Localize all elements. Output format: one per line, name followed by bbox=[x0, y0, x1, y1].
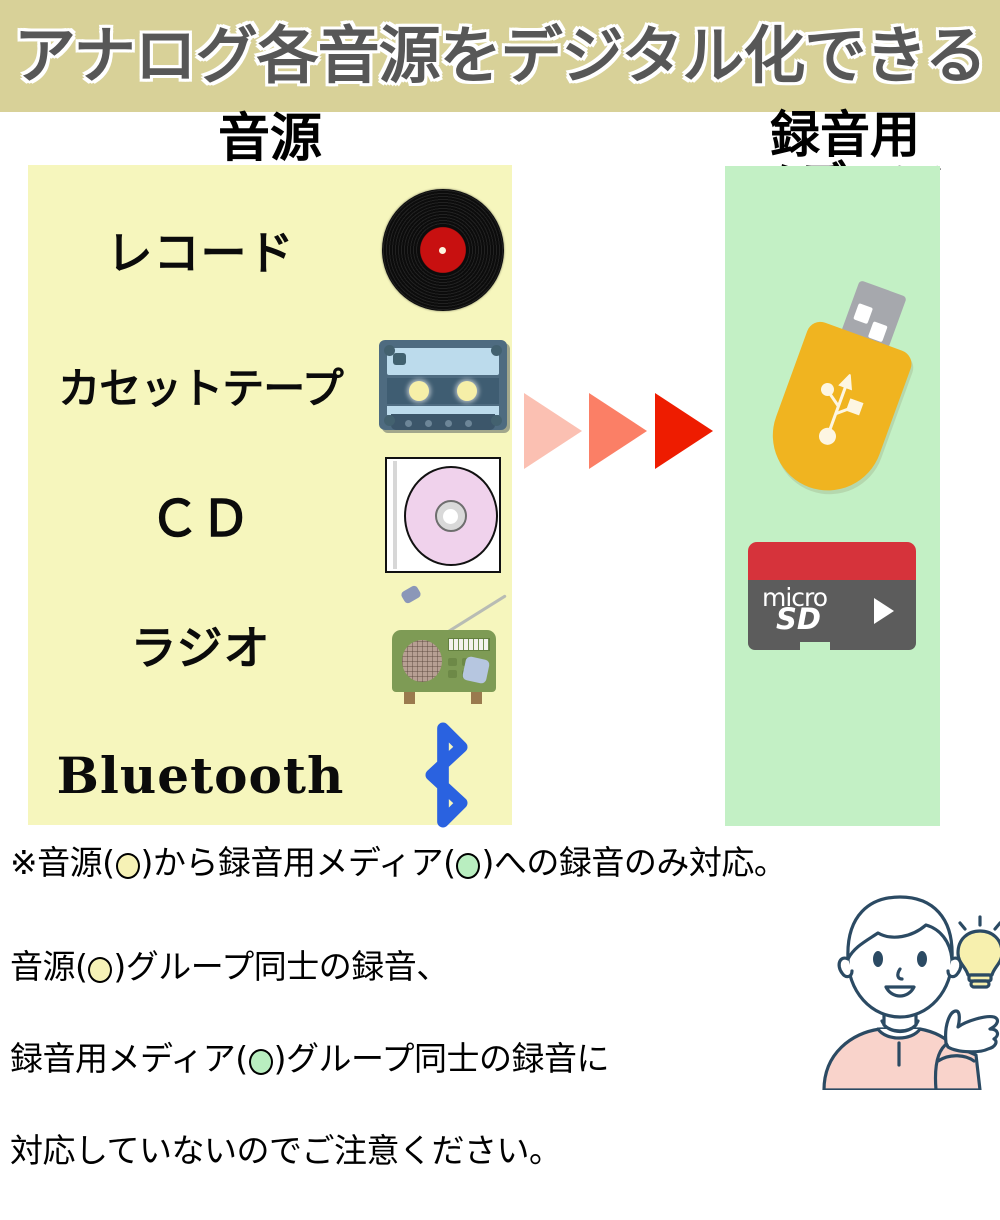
radio-icon bbox=[373, 580, 512, 710]
footnote-line2-part1: 録音用メディア( bbox=[10, 1039, 248, 1078]
footnote-primary-part1: ※音源( bbox=[10, 843, 115, 882]
footnote-line1-part1: 音源( bbox=[10, 947, 87, 986]
cd-jewel-case-icon bbox=[373, 450, 512, 580]
source-label-cd: ＣＤ bbox=[28, 479, 373, 551]
footnote-secondary: 音源()グループ同士の録音、 録音用メディア()グループ同士の録音に 対応してい… bbox=[10, 898, 609, 1220]
flow-arrow-3 bbox=[655, 393, 713, 469]
legend-dot-media-2 bbox=[249, 1049, 273, 1075]
footnote-line-3: 対応していないのでご注意ください。 bbox=[10, 1128, 609, 1174]
footnote-line-2: 録音用メディア()グループ同士の録音に bbox=[10, 1036, 609, 1082]
footnote-line1-part2: )グループ同士の録音、 bbox=[113, 947, 448, 986]
footnote-primary-part3: )への録音のみ対応。 bbox=[481, 843, 786, 882]
legend-dot-media bbox=[456, 853, 480, 879]
vinyl-record-icon bbox=[373, 185, 512, 315]
footnote-primary: ※音源()から録音用メディア()への録音のみ対応。 bbox=[10, 836, 786, 884]
legend-dot-source bbox=[116, 853, 140, 879]
microsd-card-icon: micro SD bbox=[748, 542, 916, 650]
source-column-heading: 音源 bbox=[140, 113, 400, 166]
footnote-line2-part2: )グループ同士の録音に bbox=[274, 1039, 609, 1078]
footnote-primary-part2: )から録音用メディア( bbox=[141, 843, 456, 882]
woman-with-idea-lightbulb-illustration bbox=[808, 893, 1000, 1090]
usb-symbol-icon bbox=[802, 366, 871, 453]
flow-arrow-1 bbox=[524, 393, 582, 469]
source-label-record: レコード bbox=[28, 217, 373, 283]
source-panel: レコード カセットテープ ＣＤ bbox=[28, 165, 512, 825]
legend-dot-source-2 bbox=[88, 957, 112, 983]
flow-arrow-2 bbox=[589, 393, 647, 469]
microsd-label-sd: SD bbox=[776, 606, 827, 633]
list-item-cd: ＣＤ bbox=[28, 450, 512, 580]
source-label-cassette: カセットテープ bbox=[28, 355, 373, 416]
cassette-tape-icon bbox=[373, 320, 512, 450]
bluetooth-icon bbox=[373, 710, 512, 840]
microsd-direction-arrow-icon bbox=[874, 598, 894, 624]
list-item-cassette: カセットテープ bbox=[28, 320, 512, 450]
source-label-bluetooth: Bluetooth bbox=[28, 746, 373, 805]
list-item-bluetooth: Bluetooth bbox=[28, 710, 512, 840]
page-title: アナログ各音源をデジタル化できる bbox=[0, 8, 1000, 104]
footnote-line-1: 音源()グループ同士の録音、 bbox=[10, 944, 609, 990]
list-item-radio: ラジオ bbox=[28, 580, 512, 710]
source-label-radio: ラジオ bbox=[28, 612, 373, 678]
bluetooth-glyph bbox=[407, 719, 479, 831]
list-item-record: レコード bbox=[28, 185, 512, 315]
